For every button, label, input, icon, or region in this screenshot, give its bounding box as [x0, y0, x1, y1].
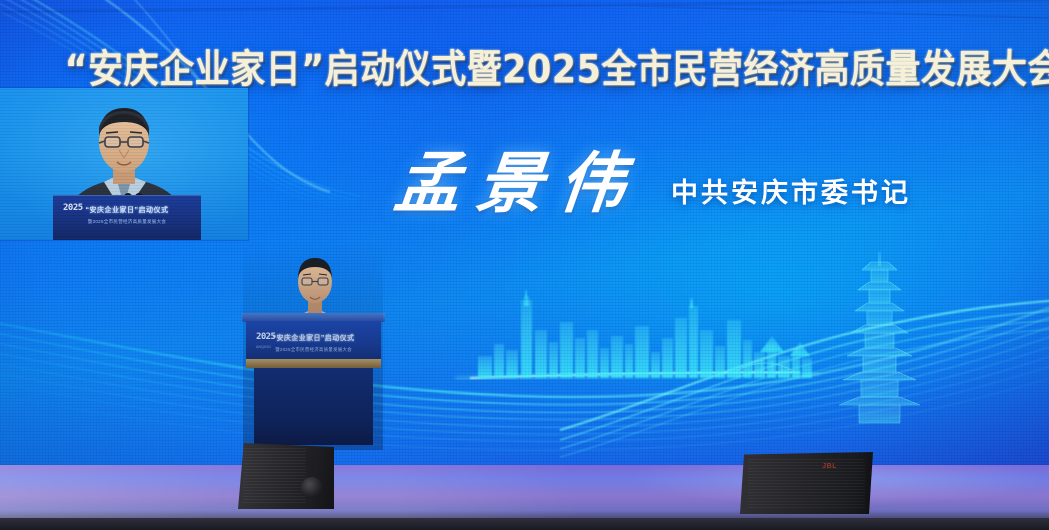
pip-led-texture: [0, 88, 248, 240]
page-title: “安庆企业家日”启动仪式暨2025全市民营经济高质量发展大会: [65, 37, 1049, 94]
podium-front-panel: 2025 ANQING “安庆企业家日”启动仪式 暨2025全市民营经济高质量发…: [246, 321, 381, 359]
podium-gold-band: [246, 359, 381, 368]
speaker-role: 中共安庆市委书记: [671, 180, 911, 216]
podium-base: [254, 368, 373, 445]
stage-monitor-speaker-right: JBL: [740, 452, 873, 514]
speaker-name: 孟景伟: [392, 150, 645, 216]
event-title-bar: “安庆企业家日”启动仪式暨2025全市民营经济高质量发展大会: [0, 38, 1049, 94]
stage-front-edge: [0, 518, 1049, 530]
stage-floor: [0, 465, 1049, 530]
speaker-grill: [748, 458, 865, 508]
speaker-woofer: [301, 477, 323, 499]
speaker-brand-label: JBL: [822, 463, 837, 470]
screenshot-root: “安庆企业家日”启动仪式暨2025全市民营经济高质量发展大会 孟景伟 中共安庆市…: [0, 0, 1049, 530]
podium-sign-title: “安庆企业家日”启动仪式: [246, 333, 381, 343]
picture-in-picture-video: 2025 “安庆企业家日”启动仪式 暨2025全市民营经济高质量发展大会: [0, 88, 248, 240]
main-podium: 2025 ANQING “安庆企业家日”启动仪式 暨2025全市民营经济高质量发…: [246, 313, 381, 445]
stage-monitor-speaker-left: [238, 443, 334, 509]
speaker-nameplate: 孟景伟 中共安庆市委书记: [395, 150, 911, 216]
podium-sign-subtitle: 暨2025全市民营经济高质量发展大会: [246, 347, 381, 353]
